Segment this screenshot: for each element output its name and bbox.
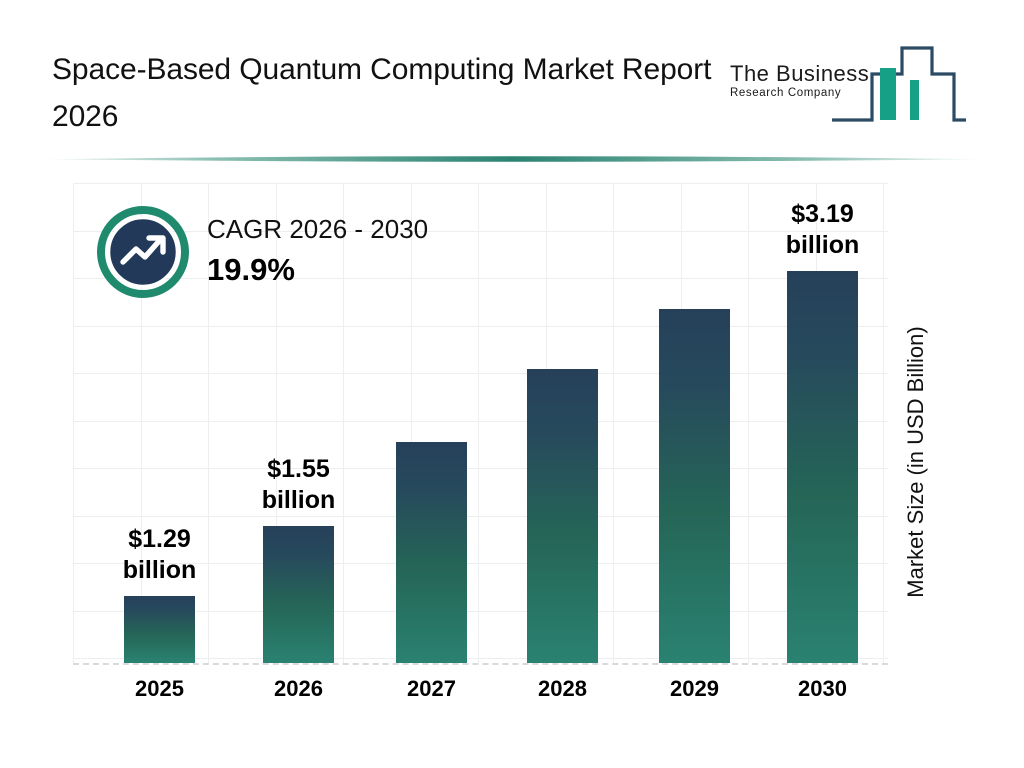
grid-line-vertical xyxy=(613,183,614,663)
x-axis-label-2025: 2025 xyxy=(94,676,225,702)
bar-2028 xyxy=(527,369,598,663)
bar-2027 xyxy=(396,442,467,663)
grid-line-horizontal xyxy=(73,183,888,184)
trending-up-icon xyxy=(97,206,189,298)
grid-line-horizontal xyxy=(73,326,888,327)
bar-2030 xyxy=(787,271,858,663)
x-axis-label-2029: 2029 xyxy=(629,676,760,702)
x-axis-label-2028: 2028 xyxy=(497,676,628,702)
grid-line-horizontal xyxy=(73,516,888,517)
bar-2026 xyxy=(263,526,334,663)
cagr-period-label: CAGR 2026 - 2030 xyxy=(207,212,428,246)
cagr-value: 19.9% xyxy=(207,250,428,290)
cagr-text-block: CAGR 2026 - 2030 19.9% xyxy=(207,212,428,290)
grid-line-vertical xyxy=(73,183,74,663)
grid-line-horizontal xyxy=(73,373,888,374)
grid-line-horizontal xyxy=(73,658,888,659)
cagr-callout: CAGR 2026 - 2030 19.9% xyxy=(97,206,517,306)
bar-value-label-2030: $3.19 billion xyxy=(742,199,903,261)
bar-value-label-2026: $1.55 billion xyxy=(218,454,379,516)
x-axis-label-2027: 2027 xyxy=(366,676,497,702)
y-axis-label: Market Size (in USD Billion) xyxy=(903,282,929,642)
x-axis-label-2026: 2026 xyxy=(233,676,364,702)
grid-line-horizontal xyxy=(73,421,888,422)
bar-value-label-2025: $1.29 billion xyxy=(79,524,240,586)
market-size-bar-chart: $1.29 billion$1.55 billion$3.19 billion … xyxy=(0,0,1024,768)
chart-page: Space-Based Quantum Computing Market Rep… xyxy=(0,0,1024,768)
bar-2025 xyxy=(124,596,195,663)
axis-baseline xyxy=(73,663,888,665)
bar-2029 xyxy=(659,309,730,663)
grid-line-horizontal xyxy=(73,611,888,612)
x-axis-label-2030: 2030 xyxy=(757,676,888,702)
grid-line-horizontal xyxy=(73,468,888,469)
